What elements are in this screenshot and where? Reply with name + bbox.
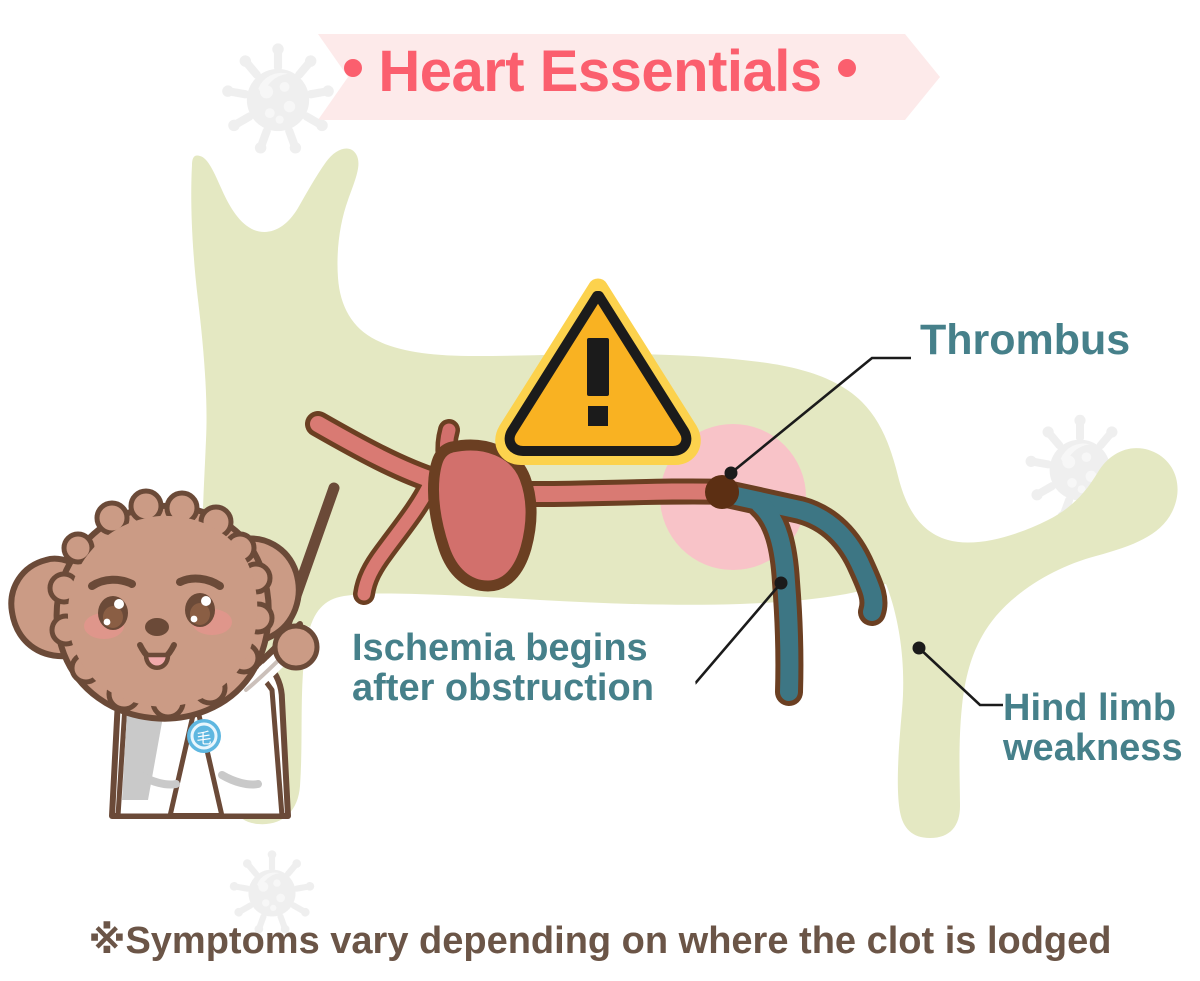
- callout-label-ischemia: Ischemia begins after obstruction: [352, 628, 654, 709]
- dog-eye-left: [98, 596, 128, 630]
- illustration-canvas: 毛: [0, 0, 1200, 981]
- thrombus-clot: [705, 475, 739, 509]
- svg-text:毛: 毛: [196, 730, 211, 747]
- dog-nose: [145, 618, 169, 636]
- dog-tongue: [146, 655, 168, 668]
- title-banner: [318, 34, 940, 120]
- callout-label-thrombus: Thrombus: [920, 318, 1130, 364]
- heart-essentials-infographic: 毛: [0, 0, 1200, 981]
- callout-label-hind-limb-weakness: Hind limb weakness: [1003, 688, 1183, 769]
- footnote-caption: ※Symptoms vary depending on where the cl…: [0, 918, 1200, 963]
- germ-icon-top-left: [221, 43, 334, 155]
- dog-eye-right: [185, 593, 215, 627]
